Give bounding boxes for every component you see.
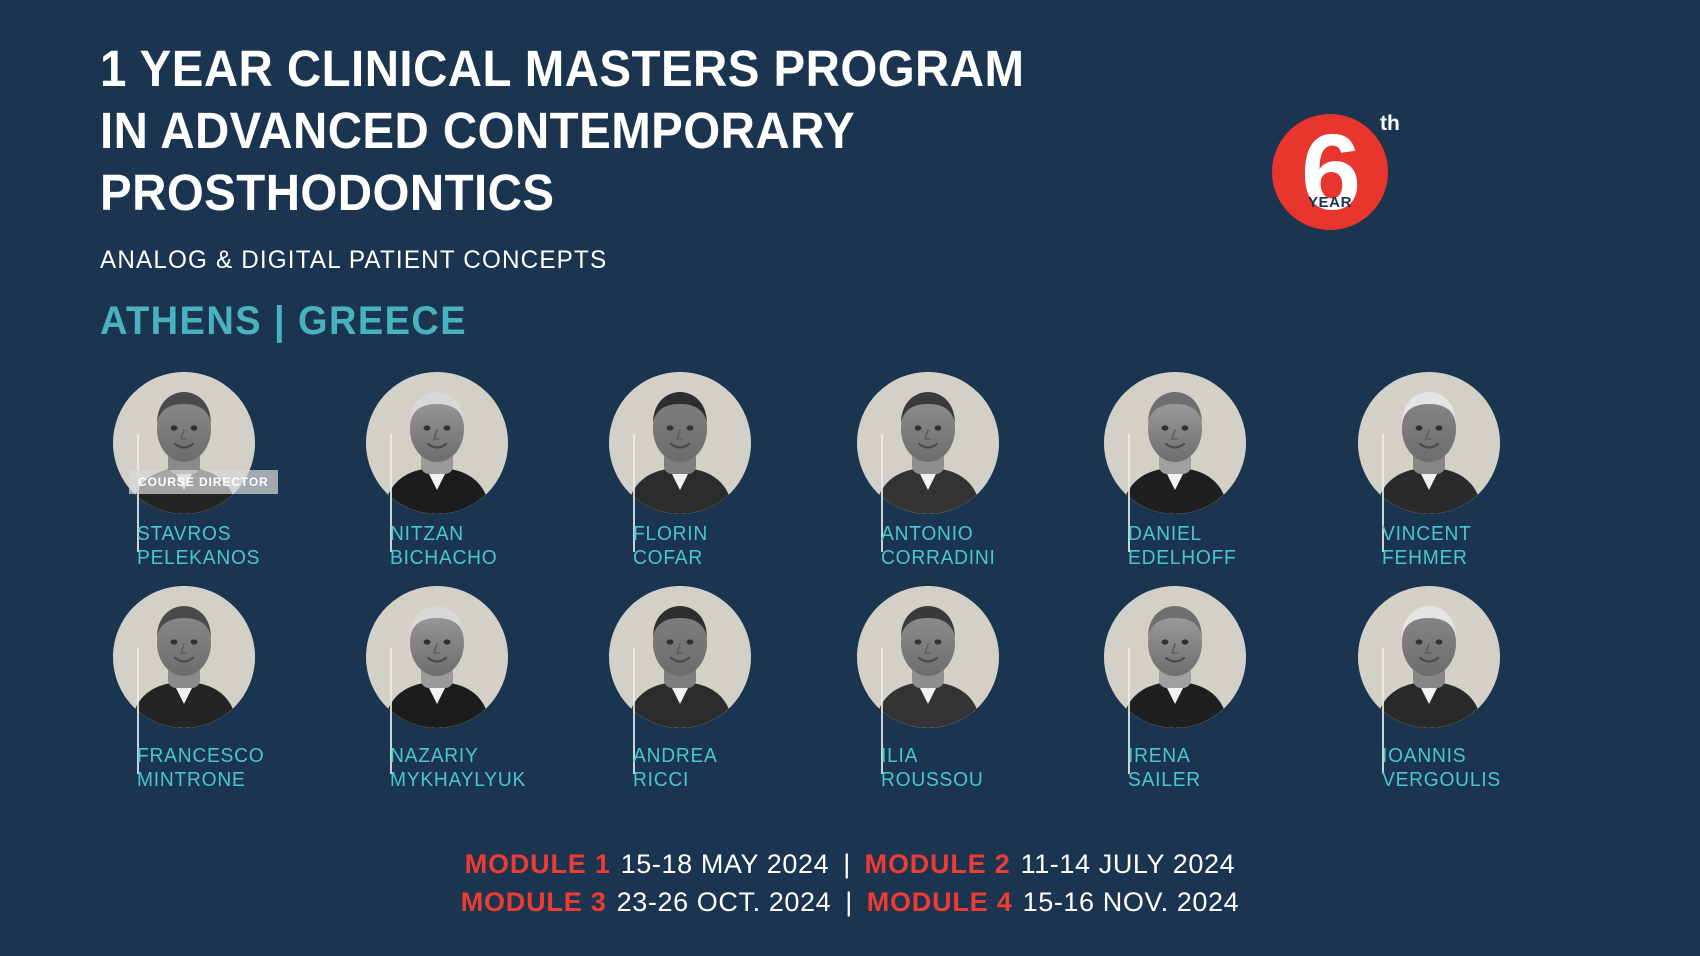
poster-canvas: 1 YEAR CLINICAL MASTERS PROGRAM IN ADVAN…	[0, 0, 1700, 956]
course-director-badge: COURSE DIRECTOR	[129, 470, 278, 494]
speaker-last-name: EDELHOFF	[1128, 546, 1237, 570]
avatar-wrapper	[609, 372, 751, 514]
speaker-last-name: COFAR	[633, 546, 708, 570]
speaker-last-name: ROUSSOU	[881, 768, 983, 792]
avatar	[1104, 586, 1246, 728]
speaker-card[interactable]: IOANNISVERGOULIS	[1350, 586, 1600, 728]
speaker-name: NITZANBICHACHO	[390, 522, 497, 570]
speaker-last-name: BICHACHO	[390, 546, 497, 570]
speaker-first-name: NAZARIY	[390, 744, 526, 768]
title-line-2: IN ADVANCED CONTEMPORARY	[100, 100, 1197, 162]
module-1-label: MODULE 1	[465, 849, 611, 879]
module-4-date: 15-16 NOV. 2024	[1023, 887, 1240, 917]
speaker-name: ILIAROUSSOU	[881, 744, 983, 792]
avatar	[1358, 586, 1500, 728]
speaker-first-name: ANTONIO	[881, 522, 996, 546]
module-separator-1: |	[829, 849, 864, 879]
speaker-first-name: ANDREA	[633, 744, 718, 768]
speaker-name: IOANNISVERGOULIS	[1382, 744, 1501, 792]
avatar-wrapper	[366, 372, 508, 514]
avatar-wrapper	[1358, 586, 1500, 728]
location-label: ATHENS | GREECE	[100, 299, 1221, 344]
avatar-wrapper	[1104, 586, 1246, 728]
speaker-card[interactable]: NAZARIYMYKHAYLYUK	[358, 586, 608, 728]
speaker-last-name: PELEKANOS	[137, 546, 260, 570]
speaker-first-name: FLORIN	[633, 522, 708, 546]
module-4-label: MODULE 4	[867, 887, 1013, 917]
module-2-date: 11-14 JULY 2024	[1021, 849, 1236, 879]
speaker-first-name: NITZAN	[390, 522, 497, 546]
avatar	[113, 586, 255, 728]
speaker-last-name: FEHMER	[1382, 546, 1472, 570]
speaker-name: DANIELEDELHOFF	[1128, 522, 1237, 570]
speaker-last-name: SAILER	[1128, 768, 1201, 792]
badge-ordinal-suffix: th	[1380, 112, 1400, 136]
speaker-card[interactable]: VINCENTFEHMER	[1350, 372, 1600, 514]
speaker-last-name: MYKHAYLYUK	[390, 768, 526, 792]
speaker-card[interactable]: FLORINCOFAR	[601, 372, 851, 514]
speaker-card[interactable]: DANIELEDELHOFF	[1096, 372, 1346, 514]
speaker-first-name: STAVROS	[137, 522, 260, 546]
speaker-card[interactable]: ANTONIOCORRADINI	[849, 372, 1099, 514]
speaker-card[interactable]: ILIAROUSSOU	[849, 586, 1099, 728]
speaker-first-name: IOANNIS	[1382, 744, 1501, 768]
avatar	[366, 372, 508, 514]
speaker-first-name: IRENA	[1128, 744, 1201, 768]
avatar-wrapper	[609, 586, 751, 728]
avatar-wrapper	[113, 586, 255, 728]
avatar	[609, 586, 751, 728]
speaker-last-name: VERGOULIS	[1382, 768, 1501, 792]
badge-year-word: YEAR	[1272, 194, 1388, 211]
speaker-name: ANTONIOCORRADINI	[881, 522, 996, 570]
speaker-name: VINCENTFEHMER	[1382, 522, 1472, 570]
speaker-name: FRANCESCOMINTRONE	[137, 744, 264, 792]
speaker-last-name: MINTRONE	[137, 768, 264, 792]
avatar	[1358, 372, 1500, 514]
module-2-label: MODULE 2	[865, 849, 1011, 879]
avatar-wrapper	[857, 372, 999, 514]
page-subtitle: ANALOG & DIGITAL PATIENT CONCEPTS	[100, 246, 1245, 275]
module-schedule: MODULE 115-18 MAY 2024|MODULE 211-14 JUL…	[0, 845, 1700, 921]
speaker-first-name: FRANCESCO	[137, 744, 264, 768]
avatar-wrapper	[857, 586, 999, 728]
module-line-1: MODULE 115-18 MAY 2024|MODULE 211-14 JUL…	[0, 845, 1700, 883]
module-1-date: 15-18 MAY 2024	[621, 849, 830, 879]
speaker-card[interactable]: FRANCESCOMINTRONE	[105, 586, 355, 728]
title-line-3: PROSTHODONTICS	[100, 162, 1197, 224]
avatar-wrapper	[1104, 372, 1246, 514]
module-3-date: 23-26 OCT. 2024	[617, 887, 832, 917]
speaker-card[interactable]: NITZANBICHACHO	[358, 372, 608, 514]
avatar-wrapper	[366, 586, 508, 728]
speaker-last-name: RICCI	[633, 768, 718, 792]
speaker-name: IRENASAILER	[1128, 744, 1201, 792]
header-block: 1 YEAR CLINICAL MASTERS PROGRAM IN ADVAN…	[100, 38, 1280, 344]
module-3-label: MODULE 3	[461, 887, 607, 917]
speaker-name: NAZARIYMYKHAYLYUK	[390, 744, 526, 792]
avatar-wrapper: COURSE DIRECTOR	[113, 372, 255, 514]
speaker-card[interactable]: IRENASAILER	[1096, 586, 1346, 728]
avatar	[857, 586, 999, 728]
title-line-1: 1 YEAR CLINICAL MASTERS PROGRAM	[100, 38, 1197, 100]
page-title: 1 YEAR CLINICAL MASTERS PROGRAM IN ADVAN…	[100, 38, 1197, 224]
speaker-card[interactable]: COURSE DIRECTORSTAVROSPELEKANOS	[105, 372, 355, 514]
speaker-name: STAVROSPELEKANOS	[137, 522, 260, 570]
speaker-first-name: VINCENT	[1382, 522, 1472, 546]
badge-number: 6	[1272, 114, 1388, 230]
speaker-card[interactable]: ANDREARICCI	[601, 586, 851, 728]
speaker-name: FLORINCOFAR	[633, 522, 708, 570]
speaker-first-name: DANIEL	[1128, 522, 1237, 546]
avatar	[857, 372, 999, 514]
speaker-name: ANDREARICCI	[633, 744, 718, 792]
speaker-first-name: ILIA	[881, 744, 983, 768]
avatar	[1104, 372, 1246, 514]
avatar-wrapper	[1358, 372, 1500, 514]
module-separator-2: |	[831, 887, 866, 917]
module-line-2: MODULE 323-26 OCT. 2024|MODULE 415-16 NO…	[0, 883, 1700, 921]
avatar	[366, 586, 508, 728]
anniversary-badge: 6 th YEAR	[1272, 108, 1432, 243]
avatar	[609, 372, 751, 514]
speaker-last-name: CORRADINI	[881, 546, 996, 570]
